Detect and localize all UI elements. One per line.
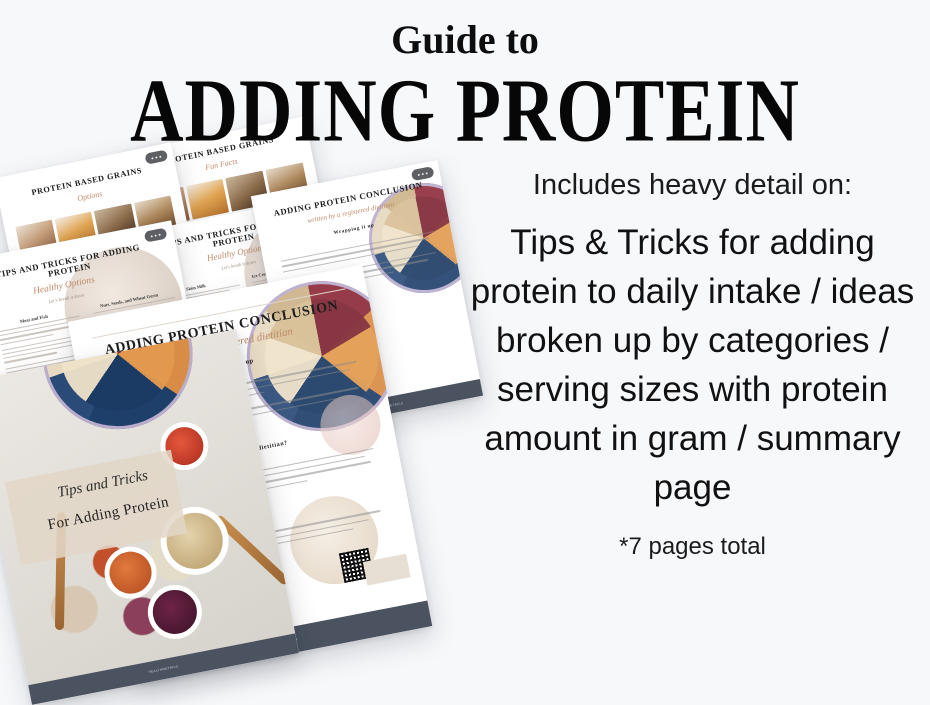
headline-main: ADDING PROTEIN	[0, 66, 930, 156]
headline-kicker: Guide to	[0, 18, 930, 62]
three-dots-icon	[422, 172, 424, 174]
includes-lead-text: Includes heavy detail on:	[465, 168, 920, 202]
three-dots-icon	[425, 172, 427, 174]
three-dots-icon	[158, 233, 160, 235]
includes-body-text: Tips & Tricks for adding protein to dail…	[465, 218, 920, 512]
footer-watermark: HEALTHMETRICS	[148, 664, 179, 674]
poster-headline: Guide to ADDING PROTEIN	[0, 18, 930, 140]
text-line	[4, 352, 58, 364]
three-dots-icon	[151, 235, 153, 237]
page-count-note: *7 pages total	[465, 532, 920, 562]
three-dots-icon	[154, 234, 156, 236]
poster-canvas: Guide to ADDING PROTEIN PROTEIN BASED GR…	[0, 0, 930, 700]
description-block: Includes heavy detail on: Tips & Tricks …	[465, 168, 920, 562]
three-dots-icon	[418, 173, 420, 175]
ebook-mockup-stage: PROTEIN BASED GRAINS Fun Facts HEALTHMET…	[0, 130, 500, 670]
food-thumb	[186, 179, 230, 220]
